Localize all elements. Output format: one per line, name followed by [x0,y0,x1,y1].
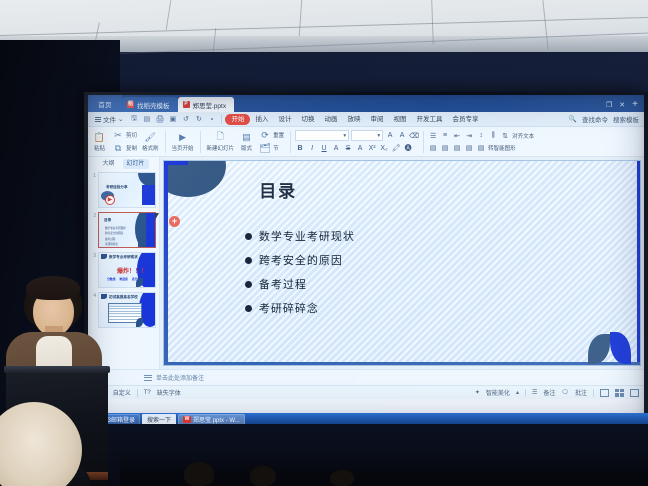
slide-bullet-text: 跨考安全的原因 [259,252,343,268]
numbering-icon[interactable]: ≡ [440,131,450,141]
slide-thumb-row[interactable]: 3 数学专业考研现状 爆炸！！！ 分数线 难度别 高分数段 [91,252,156,288]
line-spacing-icon[interactable]: ↕ [476,131,486,141]
format-painter-icon: 🖌 [144,131,156,143]
editor-body: 大纲 幻灯片 1 考研经验分享 ▶ [88,157,644,369]
beautify-label[interactable]: 智能美化 [486,388,510,397]
document-tab-pptx[interactable]: P 郑思莹.pptx [178,97,235,112]
bullet-icon [245,281,252,288]
paragraph-group[interactable]: ☰ ≡ ⇤ ⇥ ↕ ⫼ ⇅ 对齐文本 ▤ ▤ ▤ ▤ ▤ 转智能图形 [428,131,534,153]
beautify-icon: ✦ [475,389,480,396]
ribbon-toolbar[interactable]: 📋 粘贴 ✂ 剪切 ⧉ 复制 🖌 格式刷 [88,127,644,157]
reading-view-icon[interactable] [630,389,639,397]
tab-outline[interactable]: 大纲 [98,159,118,169]
justify-icon[interactable]: ▤ [464,143,474,153]
save-icon[interactable]: 🖫 [128,114,139,125]
bullet-icon [245,305,252,312]
ribbon-tab-insert[interactable]: 插入 [250,112,273,127]
align-left-icon[interactable]: ▤ [428,143,438,153]
columns-icon[interactable]: ⫼ [488,131,498,141]
print-icon[interactable]: 🖨 [154,114,165,125]
search-icon: 🔍 [569,115,577,123]
slide-thumb-row[interactable]: 2 目录 数学专业考研现状 跨考安全的原因 备考过程 考研碎碎念 [91,212,156,248]
slide-number: 4 [91,292,96,299]
document-tab-pptx-label: 郑思莹.pptx [193,100,227,110]
podium-top [4,366,110,373]
slide-bullet-item[interactable]: 数学专业考研现状 [245,228,355,244]
underline-button[interactable]: U [319,143,329,153]
thumb-highlight: 爆炸！！！ [117,266,147,275]
strikethrough-button[interactable]: S [343,143,353,153]
divider [423,131,424,153]
tab-actions[interactable]: ❐ ✕ + [606,99,644,112]
add-slide-badge[interactable]: + [169,216,180,227]
subscript-button[interactable]: X₂ [379,143,389,153]
slide-thumb-title: 初试高报高名学校 [109,295,138,300]
distribute-icon[interactable]: ▤ [476,143,486,153]
presenter-hair-front [26,276,80,300]
ribbon-tab-start[interactable]: 开始 [225,114,250,125]
char-border-button[interactable]: A [355,143,365,153]
play-icon: ▶ [177,131,189,143]
slides-group[interactable]: 🗋 新建幻灯片 ▤ 版式 ⟳ 重置 🗂 节 [205,127,287,157]
format-painter-label: 格式刷 [142,144,159,152]
bullet-icon [245,257,252,264]
deco-shape [142,185,155,205]
pptx-icon: P [183,101,190,108]
hamburger-icon [95,116,101,123]
font-color-icon[interactable]: 🅐 [403,143,413,153]
slide-thumb-title: 考研经验分享 [106,185,128,190]
room-photo: 首页 稻 找稻壳模板 P 郑思莹.pptx ❐ ✕ + 文件 ⌄ � [0,0,648,486]
layout-icon: ▤ [241,131,253,143]
current-slide[interactable]: 目录 数学专业考研现状 跨考安全的原因 备考过程 [163,160,641,366]
ribbon-tab-view[interactable]: 视图 [388,112,411,127]
increase-indent-icon[interactable]: ⇥ [464,131,474,141]
divider [525,389,526,397]
status-bar[interactable]: 12 自定义 T? 缺失字体 ✦ 智能美化 ▴ ☰ 备注 🗨 批注 [88,385,644,399]
ribbon-tab-member[interactable]: 会员专享 [447,112,483,127]
text-direction-button[interactable]: ⇅ [500,131,510,141]
normal-view-icon[interactable] [600,389,609,397]
deco-shape [101,294,107,299]
file-menu-label: 文件 [103,114,116,124]
highlight-icon[interactable]: 🖍 [391,143,401,153]
ribbon-tab-animations[interactable]: 动画 [319,112,342,127]
slide-stage[interactable]: 目录 数学专业考研现状 跨考安全的原因 备考过程 [160,157,644,369]
close-icon[interactable]: ✕ [619,101,625,109]
align-text-label[interactable]: 对齐文本 [512,132,534,140]
mouse-cursor [155,213,162,220]
comments-icon: 🗨 [561,389,569,396]
redo-icon[interactable]: ↻ [193,114,204,125]
divider [593,389,594,397]
paste-button[interactable]: 📋 粘贴 [90,131,109,152]
section-button[interactable]: 🗂 节 [257,142,286,154]
notes-toggle-label[interactable]: 备注 [543,388,555,397]
section-icon: 🗂 [259,142,271,154]
home-tab-label: 首页 [98,99,112,109]
play-from-current-button[interactable]: ▶ 当页开始 [170,131,196,152]
chevron-down-icon: ▾ [377,133,380,139]
layout-button[interactable]: ▤ 版式 [237,131,256,152]
deco-leaf-right [610,332,631,364]
ribbon-tab-slideshow[interactable]: 放映 [342,112,365,127]
divider [200,131,201,153]
slide-sorter-icon[interactable] [615,389,624,397]
home-tab[interactable]: 首页 [88,95,122,112]
slide-thumbnail-1[interactable]: 考研经验分享 ▶ [98,172,156,208]
deco-left-edge [164,161,168,365]
ribbon-tab-transitions[interactable]: 切换 [296,112,319,127]
align-right-icon[interactable]: ▤ [452,143,462,153]
chevron-down-icon: ▾ [343,133,346,139]
ribbon-tab-bar[interactable]: 文件 ⌄ 🖫 ▤ 🖨 ▣ ↺ ↻ ∘ 开始 插入 设计 切换 动画 放映 审阅 … [88,112,644,127]
cut-button[interactable]: ✂ 剪切 [110,129,139,141]
copy-button[interactable]: ⧉ 复制 [110,142,139,154]
tab-slides[interactable]: 幻灯片 [123,159,149,169]
ribbon-tab-developer[interactable]: 开发工具 [411,112,447,127]
italic-button[interactable]: I [307,143,317,153]
font-group[interactable]: ▾ ▾ A A ⌫ B I U A S A X² [295,130,419,153]
new-slide-icon: 🗋 [214,131,226,143]
slide-number: 1 [91,172,96,179]
layout-label: 版式 [241,144,252,152]
thumb-sub: 分数线 [107,277,115,281]
refresh-icon[interactable]: ∘ [206,114,217,125]
find-command-label[interactable]: 查找命令 [582,114,608,124]
clear-format-icon[interactable]: ⌫ [409,131,419,141]
thumb-bullet: 数学专业考研现状 [105,226,126,230]
new-slide-button[interactable]: 🗋 新建幻灯片 [205,131,237,152]
restore-icon[interactable]: ❐ [606,101,612,109]
wps-presentation-window[interactable]: 首页 稻 找稻壳模板 P 郑思莹.pptx ❐ ✕ + 文件 ⌄ � [88,95,644,417]
new-tab-icon[interactable]: + [632,99,638,110]
status-right-group[interactable]: ✦ 智能美化 ▴ ☰ 备注 🗨 批注 [475,388,639,397]
format-painter-button[interactable]: 🖌 格式刷 [140,131,161,152]
slide-thumbnail-4[interactable]: 初试高报高名学校 [98,292,156,328]
divider [137,389,138,397]
bold-button[interactable]: B [295,143,305,153]
slide-bullet-item[interactable]: 跨考安全的原因 [245,252,355,268]
slide-thumb-title: 目录 [104,218,111,223]
section-label: 节 [273,144,279,152]
thumb-bullet: 跨考安全的原因 [105,231,126,235]
align-center-icon[interactable]: ▤ [440,143,450,153]
deco-shape [136,318,143,327]
grow-font-button[interactable]: A [385,131,395,141]
deco-circle-top [163,160,226,197]
document-tab-templates-label: 找稻壳模板 [137,100,170,110]
divider [221,115,222,124]
ribbon-search-area[interactable]: 🔍 查找命令 搜索模板 [569,114,644,124]
taskbar-item-wps-label: 郑思莹.pptx - W... [193,415,240,424]
undo-icon[interactable]: ↺ [180,114,191,125]
paste-icon: 📋 [94,131,106,143]
print-preview-icon[interactable]: ▣ [167,114,178,125]
slide-bullet-list[interactable]: 数学专业考研现状 跨考安全的原因 备考过程 考研碎碎念 [245,228,355,316]
slide-thumbnail-2[interactable]: 目录 数学专业考研现状 跨考安全的原因 备考过程 考研碎碎念 [98,212,156,248]
slide-bullet-text: 数学专业考研现状 [259,228,355,244]
reset-icon: ⟳ [259,129,271,141]
document-tab-templates[interactable]: 稻 找稻壳模板 [122,97,178,112]
scissors-icon: ✂ [112,129,124,141]
thumb-sub: 难度别 [119,277,127,281]
template-icon: 稻 [127,101,134,108]
theme-label[interactable]: 自定义 [113,388,131,397]
taskbar-search-label: 搜索一下 [147,415,171,424]
divider [165,131,166,153]
font-size-select[interactable]: ▾ [351,130,383,141]
shrink-font-button[interactable]: A [397,131,407,141]
cut-label: 剪切 [126,131,137,139]
copy-icon: ⧉ [112,142,124,154]
save-as-icon[interactable]: ▤ [141,114,152,125]
document-tab-strip[interactable]: 首页 稻 找稻壳模板 P 郑思莹.pptx ❐ ✕ + [88,95,644,112]
new-slide-label: 新建幻灯片 [207,144,235,152]
play-from-current-label: 当页开始 [172,144,194,152]
slide-thumbnail-list[interactable]: 1 考研经验分享 ▶ 2 [88,170,159,369]
search-template-label[interactable]: 搜索模板 [613,114,639,124]
ribbon-tab-design[interactable]: 设计 [273,112,296,127]
slide-thumb-title: 数学专业考研现状 [109,255,138,260]
chevron-down-icon[interactable]: ▴ [516,389,519,396]
paste-label: 粘贴 [94,144,105,152]
slide-number: 2 [91,212,96,219]
file-menu-button[interactable]: 文件 ⌄ [91,114,127,124]
ribbon-tab-review[interactable]: 审阅 [365,112,388,127]
slide-panel[interactable]: 大纲 幻灯片 1 考研经验分享 ▶ [88,157,160,369]
play-badge[interactable]: ▶ [105,195,115,205]
missing-fonts-label[interactable]: 缺失字体 [157,388,181,397]
slide-number: 3 [91,252,96,259]
decrease-indent-icon[interactable]: ⇤ [452,131,462,141]
superscript-button[interactable]: X² [367,143,377,153]
notes-toggle-icon: ☰ [532,389,537,396]
reset-button[interactable]: ⟳ 重置 [257,129,286,141]
notes-pane[interactable]: 单击此处添加备注 [88,369,644,385]
slide-thumbnail-3[interactable]: 数学专业考研现状 爆炸！！！ 分数线 难度别 高分数段 [98,252,156,288]
panel-view-tabs[interactable]: 大纲 幻灯片 [88,157,159,170]
chevron-down-icon: ⌄ [118,115,123,123]
convert-smartart-label[interactable]: 转智能图形 [488,144,516,152]
deco-right-edge [637,161,640,365]
font-name-select[interactable]: ▾ [295,130,349,141]
deco-shape [101,254,107,259]
audience-head [250,466,276,486]
divider [290,131,291,153]
audience-head [184,462,214,486]
audience-head [330,470,354,486]
slide-title[interactable]: 目录 [259,177,297,202]
comments-label[interactable]: 批注 [575,388,587,397]
slide-bullet-text: 考研碎碎念 [259,300,319,316]
bullet-icon [245,233,252,240]
slide-bullet-text: 备考过程 [259,276,307,292]
missing-font-icon: T? [144,390,151,396]
bullets-icon[interactable]: ☰ [428,131,438,141]
slide-thumb-row[interactable]: 4 初试高报高名学校 [91,292,156,328]
clipboard-group[interactable]: 📋 粘贴 ✂ 剪切 ⧉ 复制 🖌 格式刷 [90,127,161,157]
copy-label: 复制 [126,144,137,152]
slide-bullet-item[interactable]: 考研碎碎念 [245,300,355,316]
reset-label: 重置 [273,131,284,139]
slideshow-group[interactable]: ▶ 当页开始 [170,127,196,157]
deco-shape [146,213,155,248]
thumb-bullet: 备考过程 [105,237,126,241]
notes-placeholder[interactable]: 单击此处添加备注 [156,373,204,382]
deco-bottom-edge [164,362,640,365]
wps-icon: W [183,416,191,423]
deco-leaf-left [588,334,610,364]
thumb-bullet: 考研碎碎念 [105,242,126,246]
text-shadow-button[interactable]: A [331,143,341,153]
notes-icon [144,373,152,382]
slide-bullet-item[interactable]: 备考过程 [245,276,355,292]
slide-thumb-row[interactable]: 1 考研经验分享 ▶ [91,172,156,208]
